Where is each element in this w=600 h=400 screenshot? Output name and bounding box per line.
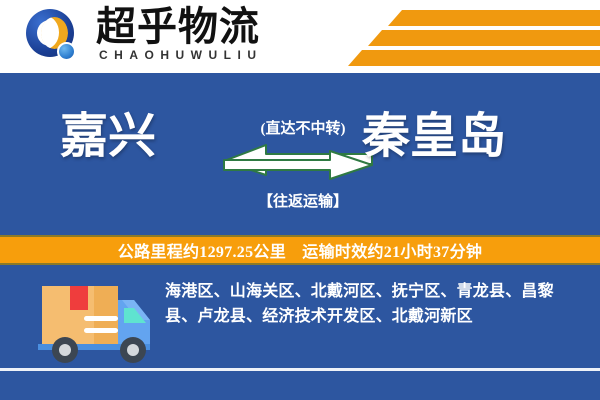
- banner-header: 超乎物流 CHAOHUWULIU: [0, 0, 600, 73]
- orange-speed-stripes-icon: [300, 0, 600, 73]
- stripe-bottom: [348, 50, 600, 66]
- bottom-divider: [0, 368, 600, 371]
- coverage-districts-text: 海港区、山海关区、北戴河区、抚宁区、青龙县、昌黎县、卢龙县、经济技术开发区、北戴…: [165, 279, 585, 329]
- double-headed-arrow-icon: [222, 143, 374, 183]
- delivery-truck-icon: [28, 278, 158, 366]
- chaohu-circle-logo-icon: [26, 9, 84, 67]
- stripe-middle: [368, 30, 600, 46]
- direct-shipping-note: (直达不中转): [243, 117, 363, 138]
- destination-city-label: 秦皇岛: [362, 109, 506, 165]
- origin-city-label: 嘉兴: [60, 109, 156, 165]
- route-section: 嘉兴 (直达不中转) 【往返运输】 秦皇岛: [0, 73, 600, 233]
- round-trip-note: 【往返运输】: [238, 190, 368, 211]
- logistics-route-banner: 超乎物流 CHAOHUWULIU 嘉兴 (直达不中转) 【往返运输】 秦皇岛 公…: [0, 0, 600, 400]
- brand-name-chinese: 超乎物流: [96, 6, 260, 48]
- distance-duration-text: 公路里程约1297.25公里 运输时效约21小时37分钟: [118, 238, 482, 262]
- stripe-top: [388, 10, 600, 26]
- logo-dot-shape: [57, 42, 76, 61]
- distance-duration-band: 公路里程约1297.25公里 运输时效约21小时37分钟: [0, 235, 600, 265]
- brand-name-pinyin: CHAOHUWULIU: [99, 48, 263, 62]
